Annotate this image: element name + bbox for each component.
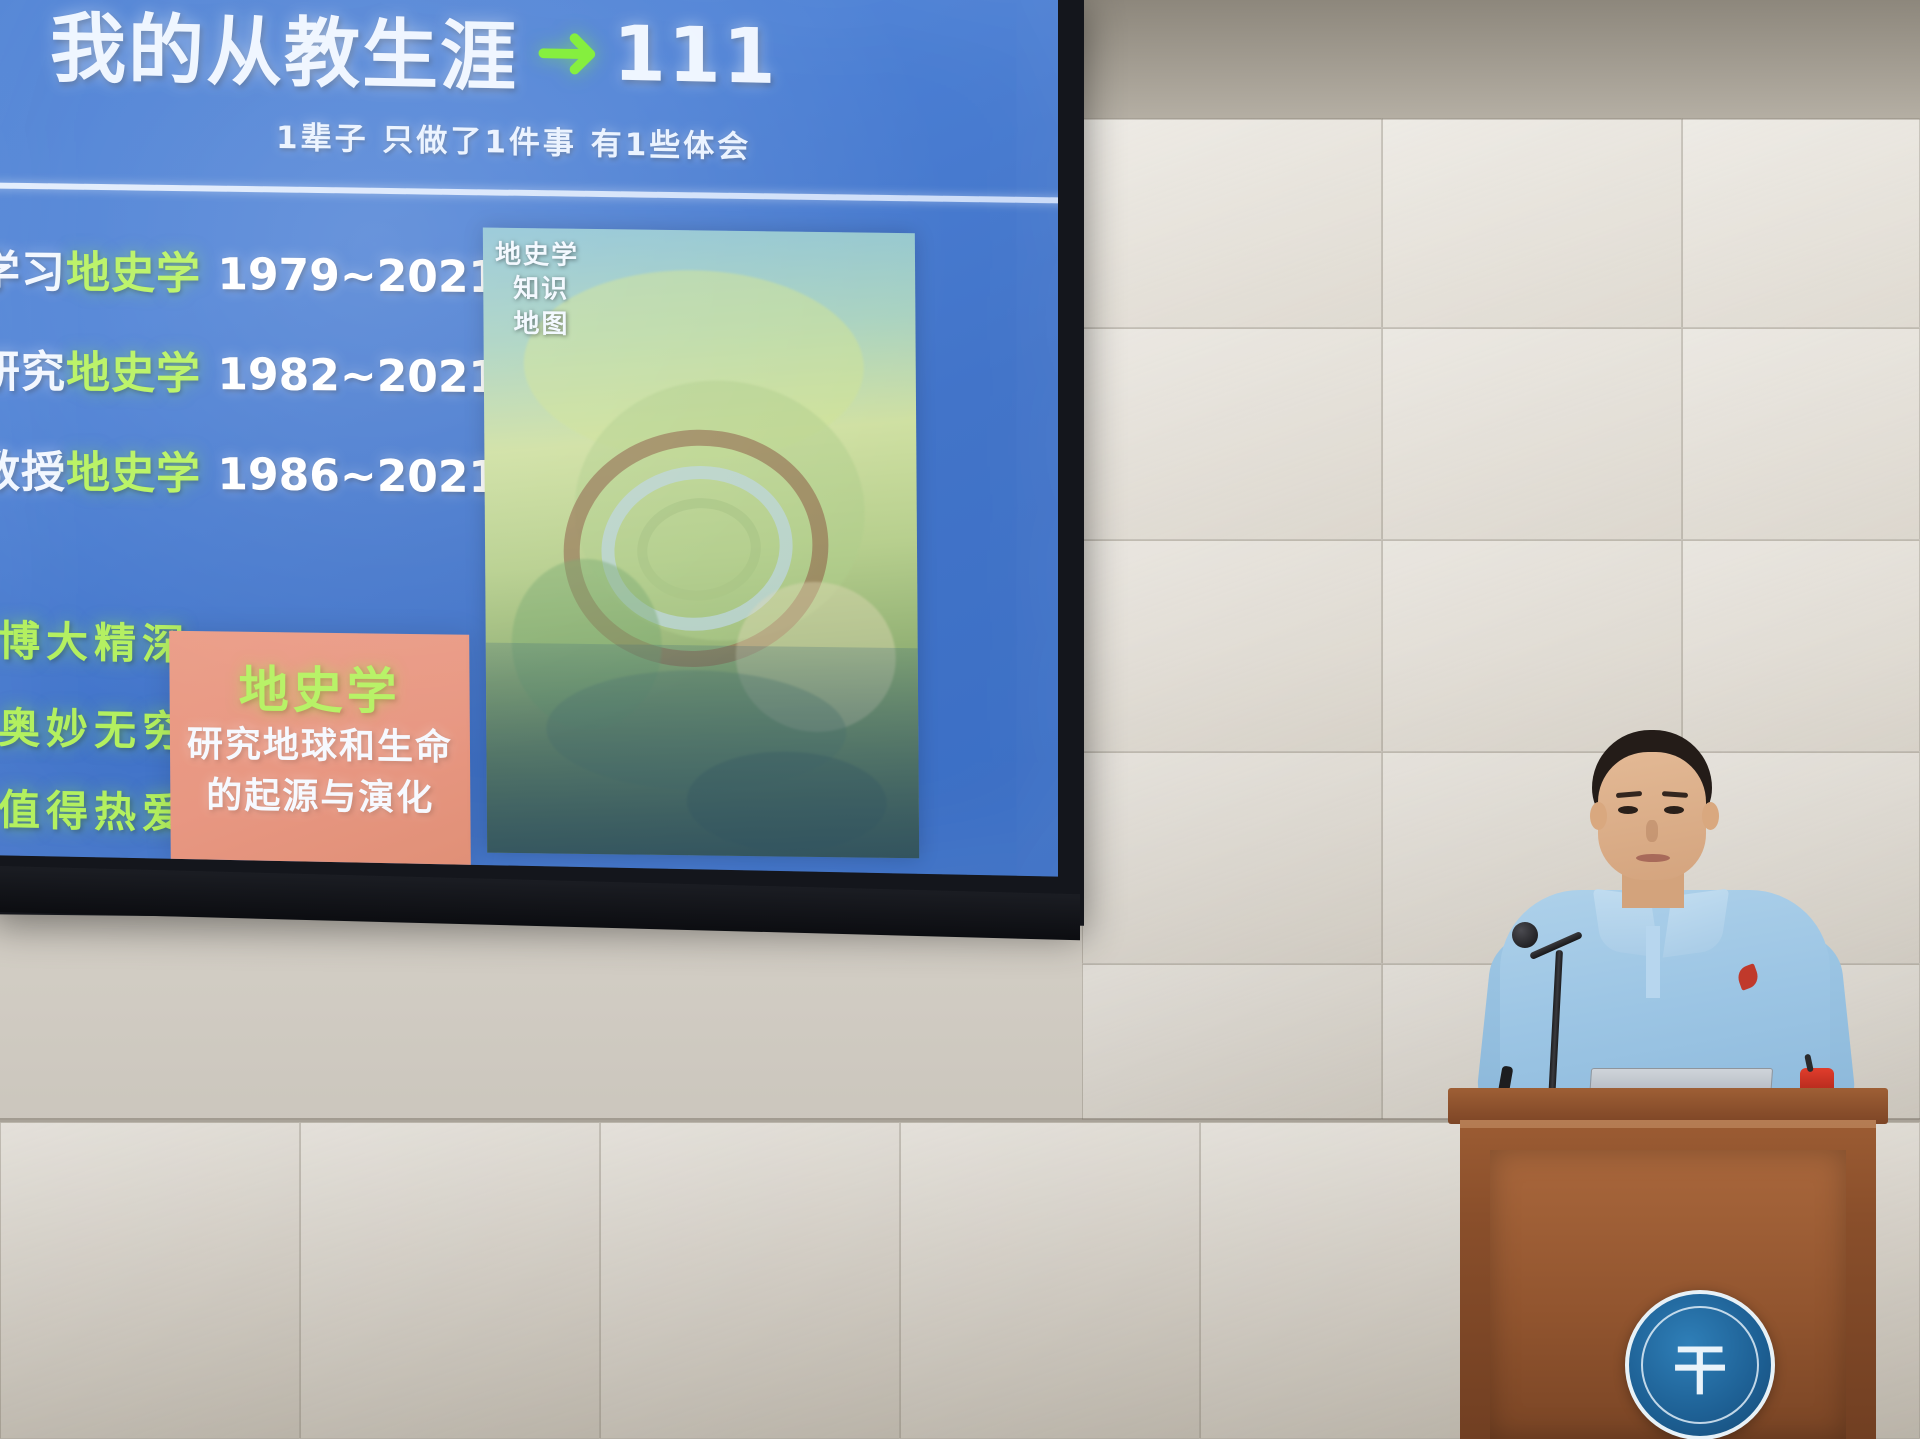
wall-panel <box>1682 118 1920 328</box>
wall-panel <box>1082 752 1382 964</box>
wall-panel <box>1382 118 1682 328</box>
map-art-ocean <box>486 643 919 859</box>
career-verb: 研究 <box>0 346 66 398</box>
wall-panel <box>1682 540 1920 752</box>
definition-line-2: 的起源与演化 <box>170 770 470 825</box>
definition-box: 地史学 研究地球和生命 的起源与演化 <box>169 631 471 867</box>
wall-upper-dark-band <box>1060 0 1920 120</box>
career-subject: 地史学 <box>66 347 201 400</box>
wall-panel <box>1382 540 1682 752</box>
career-verb: 学习 <box>0 246 66 298</box>
career-verb: 教授 <box>0 446 66 498</box>
presenter-eye-left <box>1618 806 1638 814</box>
map-label-line-3: 地图 <box>495 306 579 341</box>
virtue-phrase: 博大精深 <box>0 607 190 672</box>
emblem-character: 干 <box>1641 1306 1759 1424</box>
career-line: 研究地史学 1982~2021热恋 <box>0 335 544 405</box>
screenshot-root: 我的从教生涯 ➜ 111 1辈子 只做了1件事 有1些体会 学习地史学 1979… <box>0 0 1920 1439</box>
career-line: 教授地史学 1986~2021婚姻 <box>0 435 544 505</box>
presenter-nose <box>1646 820 1658 842</box>
microphone-head <box>1512 922 1538 948</box>
wall-panel <box>0 1122 300 1439</box>
slide-title-text: 我的从教生涯 <box>50 0 518 106</box>
presenter-shirt-placket <box>1646 926 1660 998</box>
map-label-line-1: 地史学 <box>495 238 579 273</box>
podium-top-edge <box>1460 1120 1876 1128</box>
wall-panel <box>900 1122 1200 1439</box>
wall-panel <box>1382 328 1682 540</box>
career-years: 1979~2021 <box>217 249 499 303</box>
slide-subtitle: 1辈子 只做了1件事 有1些体会 <box>276 112 751 167</box>
virtue-phrase: 值得热爱 <box>0 776 190 841</box>
wall-panel <box>300 1122 600 1439</box>
wall-panel <box>1682 328 1920 540</box>
presentation-slide: 我的从教生涯 ➜ 111 1辈子 只做了1件事 有1些体会 学习地史学 1979… <box>0 0 1058 877</box>
wall-panel <box>1082 540 1382 752</box>
presenter-ear-right <box>1702 802 1719 830</box>
projection-screen-frame: 我的从教生涯 ➜ 111 1辈子 只做了1件事 有1些体会 学习地史学 1979… <box>0 0 1084 926</box>
arrow-right-icon: ➜ <box>534 15 603 88</box>
map-label-line-2: 知识 <box>495 272 579 307</box>
knowledge-map-image: 地史学 知识 地图 <box>483 228 919 859</box>
podium-top-surface <box>1448 1088 1888 1124</box>
virtue-phrase: 奥妙无穷 <box>0 694 190 759</box>
institution-emblem: 干 <box>1625 1290 1775 1439</box>
career-years: 1986~2021 <box>217 449 499 503</box>
career-subject: 地史学 <box>66 247 201 300</box>
career-line: 学习地史学 1979~2021初恋 <box>0 235 544 305</box>
presenter-mouth <box>1636 854 1670 862</box>
knowledge-map-label: 地史学 知识 地图 <box>495 238 580 342</box>
definition-box-body: 研究地球和生命 的起源与演化 <box>170 719 471 825</box>
wall-panel <box>1082 964 1382 1120</box>
wall-panel <box>600 1122 900 1439</box>
presenter-ear-left <box>1590 802 1607 830</box>
definition-line-1: 研究地球和生命 <box>170 719 470 774</box>
presenter-eye-right <box>1664 806 1684 814</box>
slide-divider <box>0 182 1058 204</box>
wall-panel <box>1082 118 1382 328</box>
wall-panel <box>1200 1122 1500 1439</box>
wall-panel <box>1082 328 1382 540</box>
career-subject: 地史学 <box>66 447 201 500</box>
slide-title-number: 111 <box>613 8 778 100</box>
slide-title: 我的从教生涯 ➜ 111 <box>50 0 950 114</box>
definition-box-title: 地史学 <box>169 649 469 725</box>
career-years: 1982~2021 <box>217 349 499 403</box>
